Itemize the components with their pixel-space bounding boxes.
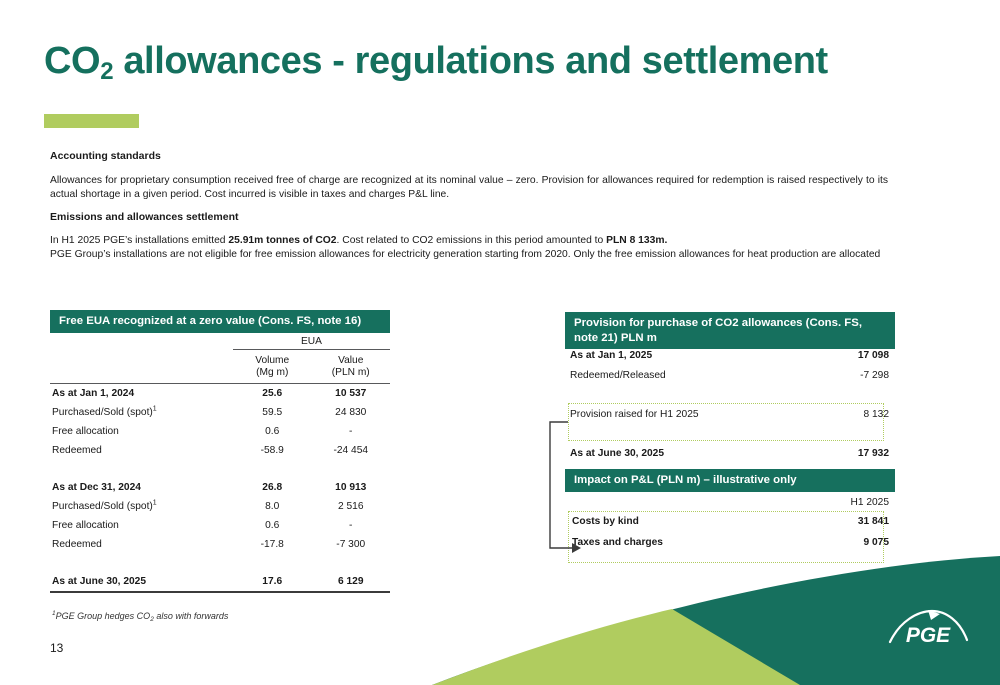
footer-decoration bbox=[0, 0, 1000, 685]
pge-logo-text: PGE bbox=[906, 624, 951, 647]
pge-logo-icon: PGE bbox=[884, 608, 972, 654]
pge-logo: PGE bbox=[884, 608, 972, 654]
